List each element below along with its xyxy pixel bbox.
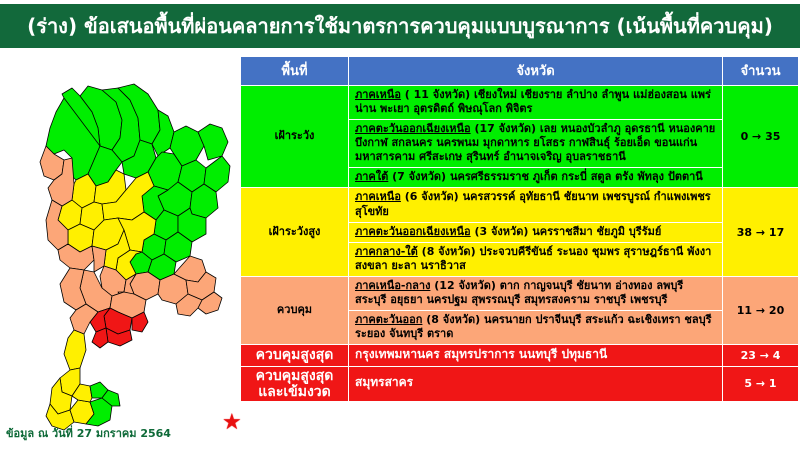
row-count: 5 → 1 — [723, 366, 799, 401]
province-list: นครศรีธรรมราช ภูเก็ต กระบี่ สตูล ตรัง พั… — [450, 170, 703, 183]
row-area-label: ควบคุมสูงสุด และเข้มงวด — [241, 366, 349, 401]
region-name: ภาคกลาง-ใต้ — [355, 245, 418, 258]
table-row: ควบคุม ภาคเหนือ-กลาง (12 จังหวัด) ตาก กา… — [241, 276, 799, 310]
row-area-label: ควบคุม — [241, 276, 349, 344]
row-province-group: ภาคใต้ (7 จังหวัด) นครศรีธรรมราช ภูเก็ต … — [349, 168, 723, 188]
row-province-group: ภาคตะวันออก (8 จังหวัด) นครนายก ปราจีนบุ… — [349, 311, 723, 345]
province-list: สมุทรสาคร — [355, 375, 413, 389]
row-count: 11 → 20 — [723, 276, 799, 344]
row-province-group: ภาคตะวันออกเฉียงเหนือ (17 จังหวัด) เลย ห… — [349, 120, 723, 168]
row-area-label: เฝ้าระวัง — [241, 86, 349, 188]
region-name: ภาคเหนือ-กลาง — [355, 279, 430, 292]
region-name: ภาคตะวันออกเฉียงเหนือ — [355, 225, 471, 238]
province-list: นครราชสีมา ชัยภูมิ บุรีรัมย์ — [532, 225, 661, 238]
table-row: เฝ้าระวังสูง ภาคเหนือ (6 จังหวัด) นครสวร… — [241, 188, 799, 222]
region-qty: ( 11 จังหวัด) — [405, 88, 470, 101]
row-area-label-line1: ควบคุมสูงสุด — [256, 368, 334, 384]
region-name: ภาคเหนือ — [355, 88, 401, 101]
thailand-map-panel: ข้อมูล ณ วันที่ 27 มกราคม 2564 — [0, 52, 238, 450]
region-name: ภาคเหนือ — [355, 190, 401, 203]
star-icon: ★ — [222, 412, 242, 434]
region-name: ภาคตะวันออกเฉียงเหนือ — [355, 122, 471, 135]
region-qty: (8 จังหวัด) — [426, 313, 480, 326]
region-qty: (12 จังหวัด) — [434, 279, 496, 292]
page-title: (ร่าง) ข้อเสนอพื้นที่ผ่อนคลายการใช้มาตรก… — [27, 16, 773, 36]
column-header-province: จังหวัด — [349, 57, 723, 86]
row-province-group: ภาคตะวันออกเฉียงเหนือ (3 จังหวัด) นครราช… — [349, 222, 723, 242]
row-province-group: สมุทรสาคร — [349, 366, 723, 401]
row-province-group: ภาคกลาง-ใต้ (8 จังหวัด) ประจวบคีรีขันธ์ … — [349, 242, 723, 276]
column-header-count: จำนวน — [723, 57, 799, 86]
region-name: ภาคตะวันออก — [355, 313, 422, 326]
table-row: เฝ้าระวัง ภาคเหนือ ( 11 จังหวัด) เชียงให… — [241, 86, 799, 120]
table-row: ควบคุมสูงสุด และเข้มงวด สมุทรสาคร 5 → 1 — [241, 366, 799, 401]
thailand-choropleth-map — [6, 54, 232, 430]
table-header-row: พื้นที่ จังหวัด จำนวน — [241, 57, 799, 86]
region-qty: (17 จังหวัด) — [474, 122, 536, 135]
row-count: 23 → 4 — [723, 345, 799, 366]
table-row: ควบคุมสูงสุด กรุงเทพมหานคร สมุทรปราการ น… — [241, 345, 799, 366]
map-data-date-caption: ข้อมูล ณ วันที่ 27 มกราคม 2564 — [6, 424, 171, 442]
row-count: 0 → 35 — [723, 86, 799, 188]
row-count: 38 → 17 — [723, 188, 799, 276]
slide-title-bar: (ร่าง) ข้อเสนอพื้นที่ผ่อนคลายการใช้มาตรก… — [0, 4, 800, 48]
row-province-group: ภาคเหนือ ( 11 จังหวัด) เชียงใหม่ เชียงรา… — [349, 86, 723, 120]
row-province-group: ภาคเหนือ-กลาง (12 จังหวัด) ตาก กาญจนบุรี… — [349, 276, 723, 310]
region-qty: (8 จังหวัด) — [422, 245, 476, 258]
region-qty: (7 จังหวัด) — [392, 170, 446, 183]
row-area-label: เฝ้าระวังสูง — [241, 188, 349, 276]
slide-root: (ร่าง) ข้อเสนอพื้นที่ผ่อนคลายการใช้มาตรก… — [0, 0, 800, 450]
region-name: ภาคใต้ — [355, 170, 388, 183]
zoning-table: พื้นที่ จังหวัด จำนวน เฝ้าระวัง ภาคเหนือ… — [240, 56, 799, 402]
province-list: กรุงเทพมหานคร สมุทรปราการ นนทบุรี ปทุมธา… — [355, 347, 607, 361]
row-area-label-line2: และเข้มงวด — [258, 384, 331, 400]
row-area-label: ควบคุมสูงสุด — [241, 345, 349, 366]
region-qty: (6 จังหวัด) — [405, 190, 459, 203]
row-province-group: กรุงเทพมหานคร สมุทรปราการ นนทบุรี ปทุมธา… — [349, 345, 723, 366]
column-header-area: พื้นที่ — [241, 57, 349, 86]
row-province-group: ภาคเหนือ (6 จังหวัด) นครสวรรค์ อุทัยธานี… — [349, 188, 723, 222]
region-qty: (3 จังหวัด) — [474, 225, 528, 238]
